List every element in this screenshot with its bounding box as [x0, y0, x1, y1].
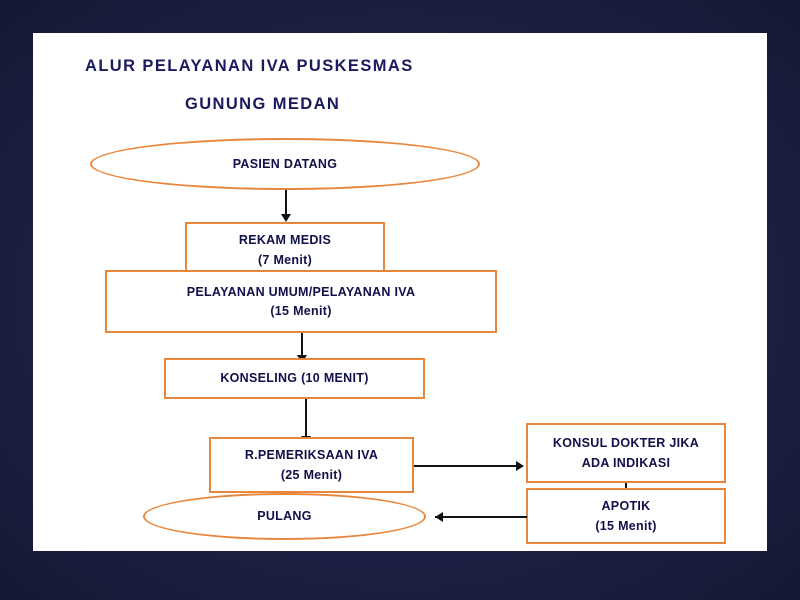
node-pasien-datang-label: PASIEN DATANG	[233, 155, 338, 173]
slide-canvas: ALUR PELAYANAN IVA PUSKESMAS GUNUNG MEDA…	[33, 33, 767, 551]
page-title-line2: GUNUNG MEDAN	[185, 95, 340, 114]
arrow-pemeriksaan-to-konsul	[414, 465, 524, 467]
node-konseling[interactable]: KONSELING (10 MENIT)	[164, 358, 425, 399]
node-rekam-medis-duration: (7 Menit)	[258, 251, 312, 269]
page-title-line1: ALUR PELAYANAN IVA PUSKESMAS	[85, 57, 414, 76]
node-pelayanan-umum-duration: (15 Menit)	[270, 302, 331, 320]
node-pemeriksaan-iva-duration: (25 Menit)	[281, 466, 342, 484]
node-apotik-duration: (15 Menit)	[595, 517, 656, 535]
arrow-apotik-to-pulang	[435, 516, 527, 518]
node-pasien-datang[interactable]: PASIEN DATANG	[90, 138, 480, 190]
node-pelayanan-umum[interactable]: PELAYANAN UMUM/PELAYANAN IVA (15 Menit)	[105, 270, 497, 333]
arrow-pasien-to-rekam	[285, 190, 287, 222]
node-rekam-medis-label: REKAM MEDIS	[239, 231, 331, 249]
slide-frame: ALUR PELAYANAN IVA PUSKESMAS GUNUNG MEDA…	[0, 0, 800, 600]
node-pelayanan-umum-label: PELAYANAN UMUM/PELAYANAN IVA	[187, 283, 416, 301]
node-konsul-dokter-label-line1: KONSUL DOKTER JIKA	[553, 434, 699, 452]
node-pemeriksaan-iva[interactable]: R.PEMERIKSAAN IVA (25 Menit)	[209, 437, 414, 493]
node-pulang[interactable]: PULANG	[143, 493, 426, 540]
node-konsul-dokter[interactable]: KONSUL DOKTER JIKA ADA INDIKASI	[526, 423, 726, 483]
node-pemeriksaan-iva-label: R.PEMERIKSAAN IVA	[245, 446, 378, 464]
node-apotik[interactable]: APOTIK (15 Menit)	[526, 488, 726, 544]
node-konseling-label: KONSELING (10 MENIT)	[220, 369, 368, 387]
node-konsul-dokter-label-line2: ADA INDIKASI	[582, 454, 671, 472]
node-apotik-label: APOTIK	[601, 497, 650, 515]
node-pulang-label: PULANG	[257, 507, 312, 525]
